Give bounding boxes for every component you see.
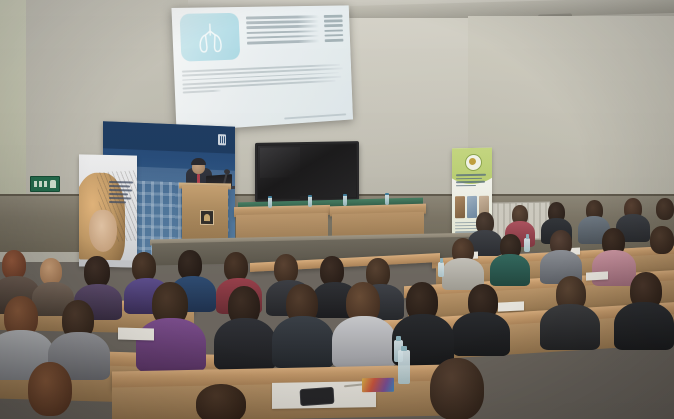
audience-head — [40, 258, 62, 285]
brochure — [362, 378, 394, 393]
audience-torso — [214, 318, 276, 370]
paper-sheet — [118, 328, 154, 341]
rollup-left-text — [109, 181, 133, 205]
row-label — [246, 15, 319, 19]
row-value — [324, 24, 343, 27]
row-value — [325, 34, 344, 37]
row-label — [246, 25, 319, 29]
water-bottle — [398, 350, 410, 384]
university-logo-icon — [218, 134, 226, 145]
water-bottle — [268, 196, 272, 208]
presentation-slide — [171, 5, 353, 131]
row-value — [325, 39, 344, 42]
left-wall-strip — [0, 0, 26, 215]
water-bottle — [308, 195, 312, 207]
audience-head — [656, 198, 674, 220]
table-row — [247, 39, 343, 44]
water-bottle — [343, 194, 347, 206]
row-label — [247, 35, 320, 40]
row-value — [324, 20, 343, 23]
portrait-face — [89, 210, 117, 253]
audience-torso — [490, 254, 530, 286]
row-value — [324, 15, 343, 18]
exit-sign-text — [34, 181, 49, 187]
photo-thumb — [455, 196, 465, 218]
smartphone — [300, 387, 335, 406]
slide-data-table — [246, 15, 344, 47]
photo-thumb — [467, 196, 477, 218]
audience-torso — [332, 316, 396, 368]
slide-footer-note — [284, 114, 346, 120]
audience-torso — [540, 304, 600, 350]
slide-body-text — [182, 64, 345, 94]
audience-torso — [452, 312, 510, 356]
table-row — [246, 20, 343, 25]
audience-torso — [592, 250, 636, 286]
audience-torso — [272, 316, 334, 368]
backdrop-header — [103, 121, 235, 154]
row-value — [324, 29, 343, 32]
emergency-exit-sign-icon — [30, 176, 60, 192]
tv-monitor — [255, 141, 359, 202]
row-label — [247, 30, 320, 34]
table-row — [246, 24, 342, 29]
crest-emblem-icon — [200, 210, 214, 225]
audience-torso — [614, 302, 674, 350]
row-label — [246, 20, 319, 24]
audience-head — [28, 362, 72, 416]
table-row — [246, 15, 343, 19]
water-bottle — [438, 262, 444, 277]
presenter-hair — [191, 158, 206, 165]
lungs-icon-svg — [190, 20, 229, 55]
rollup-right-headline — [456, 174, 488, 189]
lungs-icon — [180, 13, 241, 62]
paper-sheet — [498, 301, 524, 311]
audience-head — [430, 358, 484, 419]
audience-torso — [136, 318, 206, 372]
audience-head — [196, 384, 246, 419]
lecture-hall-photo — [0, 0, 674, 419]
water-bottle — [524, 238, 530, 252]
paper-sheet — [586, 271, 608, 280]
water-bottle — [385, 193, 389, 205]
rollup-banner-left — [79, 154, 137, 267]
projection-screen — [171, 5, 353, 131]
tv-reflection — [260, 147, 300, 178]
row-label — [247, 39, 320, 44]
exit-sign-figure-icon — [50, 180, 56, 188]
slide-header-row — [180, 11, 344, 62]
audience-head — [650, 226, 674, 254]
